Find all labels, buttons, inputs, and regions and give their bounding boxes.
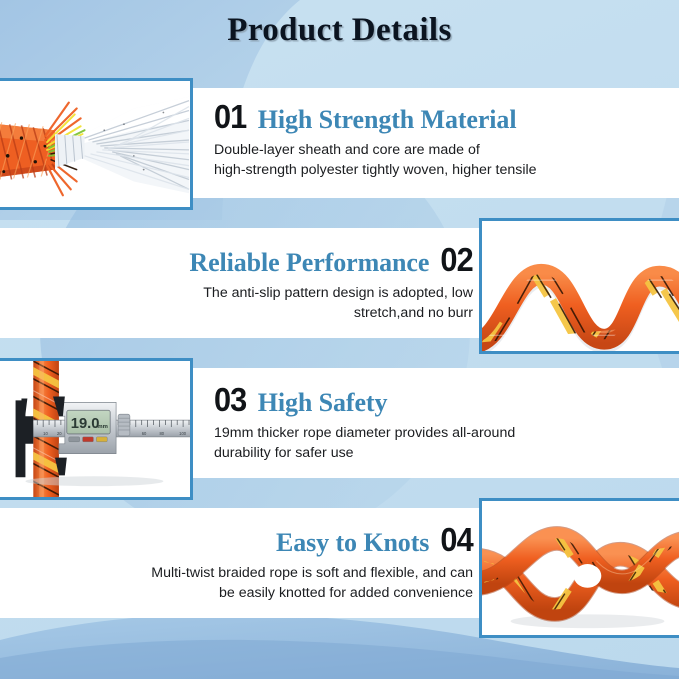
section-number-2: 02 — [441, 243, 473, 276]
section-title-2: Reliable Performance — [189, 250, 429, 276]
section-headline-4: Easy to Knots 04 — [18, 523, 473, 556]
caliper-reading: 19.0 — [71, 416, 100, 432]
image-panel-knot — [479, 498, 679, 638]
caliper-measuring-rope-photo: 01020 406080 100 19.0 mm — [0, 361, 190, 497]
svg-text:80: 80 — [159, 431, 164, 436]
reef-knot-photo — [482, 501, 679, 635]
product-details-infographic: Product Details — [0, 0, 679, 679]
section-number-4: 04 — [441, 523, 473, 556]
section-title-3: High Safety — [258, 390, 388, 416]
wavy-rope-photo — [482, 221, 679, 351]
section-text-3: 03 High Safety 19mm thicker rope diamete… — [214, 383, 669, 463]
section-text-2: Reliable Performance 02 The anti-slip pa… — [18, 243, 473, 323]
section-body-1: Double-layer sheath and core are made of… — [214, 140, 669, 180]
svg-text:100: 100 — [179, 431, 187, 436]
section-headline-2: Reliable Performance 02 — [18, 243, 473, 276]
section-text-4: Easy to Knots 04 Multi-twist braided rop… — [18, 523, 473, 603]
section-body-3: 19mm thicker rope diameter provides all-… — [214, 423, 669, 463]
section-body-4: Multi-twist braided rope is soft and fle… — [18, 563, 473, 603]
section-body-2: The anti-slip pattern design is adopted,… — [18, 283, 473, 323]
image-panel-caliper: 01020 406080 100 19.0 mm — [0, 358, 193, 500]
svg-text:10: 10 — [43, 431, 48, 436]
section-number-3: 03 — [214, 383, 246, 416]
section-title-4: Easy to Knots — [276, 530, 429, 556]
page-title: Product Details — [0, 12, 679, 49]
section-number-1: 01 — [214, 100, 246, 133]
section-text-1: 01 High Strength Material Double-layer s… — [214, 100, 669, 180]
svg-text:60: 60 — [142, 431, 147, 436]
caliper-unit: mm — [97, 424, 108, 430]
image-panel-wavy-rope — [479, 218, 679, 354]
svg-text:20: 20 — [57, 431, 62, 436]
image-panel-sheath-core — [0, 78, 193, 210]
section-headline-3: 03 High Safety — [214, 383, 669, 416]
rope-sheath-and-core-photo — [0, 81, 190, 207]
section-title-1: High Strength Material — [258, 107, 517, 133]
section-headline-1: 01 High Strength Material — [214, 100, 669, 133]
